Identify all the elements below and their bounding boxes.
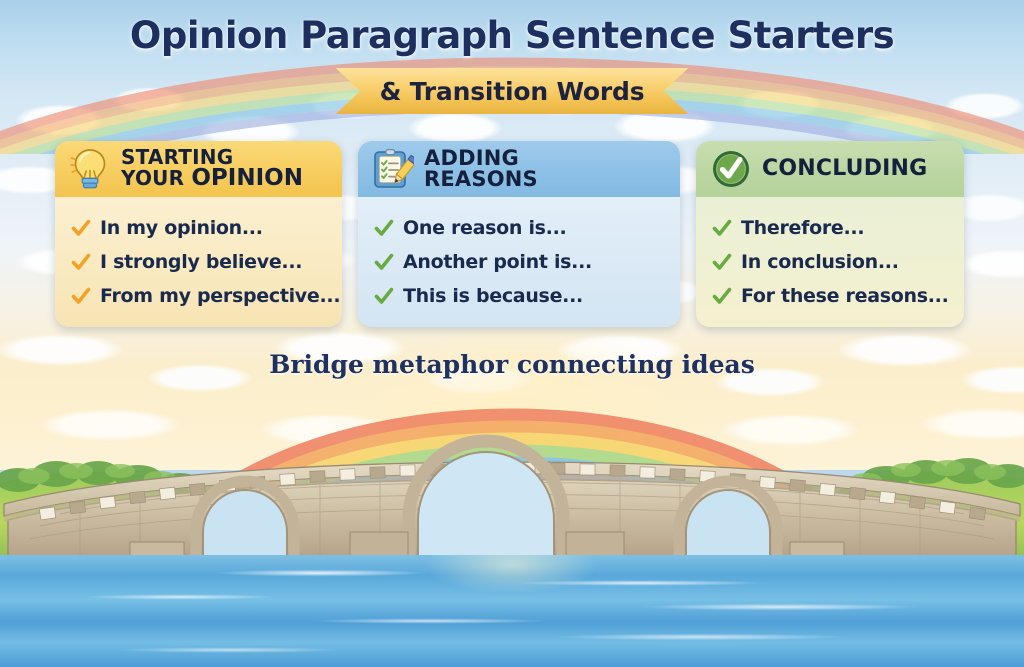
check-icon — [374, 218, 394, 238]
check-badge-icon — [710, 147, 752, 191]
card-starting-your-opinion[interactable]: STARTING YOUR OPINION In my opinion... I… — [55, 141, 342, 327]
list-item-label: In conclusion... — [741, 251, 899, 273]
stone-arch-bridge — [4, 441, 1020, 570]
card-body: Therefore... In conclusion... For these … — [696, 197, 964, 323]
list-item[interactable]: For these reasons... — [712, 279, 956, 313]
card-header: STARTING YOUR OPINION — [55, 141, 342, 197]
card-title-line-1: STARTING — [121, 147, 303, 167]
list-item[interactable]: I strongly believe... — [71, 245, 334, 279]
check-icon — [712, 252, 732, 272]
list-item-label: One reason is... — [403, 217, 566, 239]
card-body: In my opinion... I strongly believe... F… — [55, 197, 342, 323]
list-item-label: Therefore... — [741, 217, 864, 239]
list-item-label: From my perspective... — [100, 285, 340, 307]
check-icon — [71, 252, 91, 272]
bridge-arches — [196, 441, 777, 568]
card-adding-reasons[interactable]: ADDING REASONS One reason is... Another … — [358, 141, 680, 327]
page-title: Opinion Paragraph Sentence Starters — [0, 14, 1024, 57]
card-title-line-1: ADDING — [424, 148, 538, 169]
list-item-label: For these reasons... — [741, 285, 948, 307]
card-body: One reason is... Another point is... Thi… — [358, 197, 680, 323]
check-icon — [712, 218, 732, 238]
card-title-line-2: YOUR — [121, 166, 191, 190]
card-title-line-1: CONCLUDING — [762, 158, 927, 180]
lightbulb-icon — [69, 147, 111, 191]
list-item-label: This is because... — [403, 285, 583, 307]
list-item-label: In my opinion... — [100, 217, 263, 239]
check-icon — [71, 286, 91, 306]
list-item[interactable]: In conclusion... — [712, 245, 956, 279]
sentence-starter-cards: STARTING YOUR OPINION In my opinion... I… — [0, 141, 1024, 331]
card-header: ADDING REASONS — [358, 141, 680, 197]
water-highlights — [0, 555, 1024, 667]
card-header-title: CONCLUDING — [762, 158, 927, 180]
card-title-emphasis: OPINION — [191, 165, 303, 191]
ribbon-label: & Transition Words — [336, 68, 689, 114]
bridge-caption: Bridge metaphor connecting ideas — [0, 350, 1024, 379]
card-title-line-2: REASONS — [424, 169, 538, 190]
list-item[interactable]: Another point is... — [374, 245, 672, 279]
list-item[interactable]: This is because... — [374, 279, 672, 313]
check-icon — [712, 286, 732, 306]
check-icon — [71, 218, 91, 238]
bridge-illustration — [0, 392, 1024, 667]
list-item[interactable]: In my opinion... — [71, 211, 334, 245]
list-item[interactable]: One reason is... — [374, 211, 672, 245]
check-icon — [374, 286, 394, 306]
card-concluding[interactable]: CONCLUDING Therefore... In conclusion...… — [696, 141, 964, 327]
clipboard-pencil-icon — [372, 147, 414, 191]
check-icon — [374, 252, 394, 272]
poster-canvas: Opinion Paragraph Sentence Starters & Tr… — [0, 0, 1024, 667]
ribbon-banner: & Transition Words — [0, 68, 1024, 114]
card-header: CONCLUDING — [696, 141, 964, 197]
list-item[interactable]: Therefore... — [712, 211, 956, 245]
list-item-label: Another point is... — [403, 251, 592, 273]
card-header-title: STARTING YOUR OPINION — [121, 147, 303, 191]
list-item-label: I strongly believe... — [100, 251, 302, 273]
list-item[interactable]: From my perspective... — [71, 279, 334, 313]
card-header-title: ADDING REASONS — [424, 148, 538, 191]
